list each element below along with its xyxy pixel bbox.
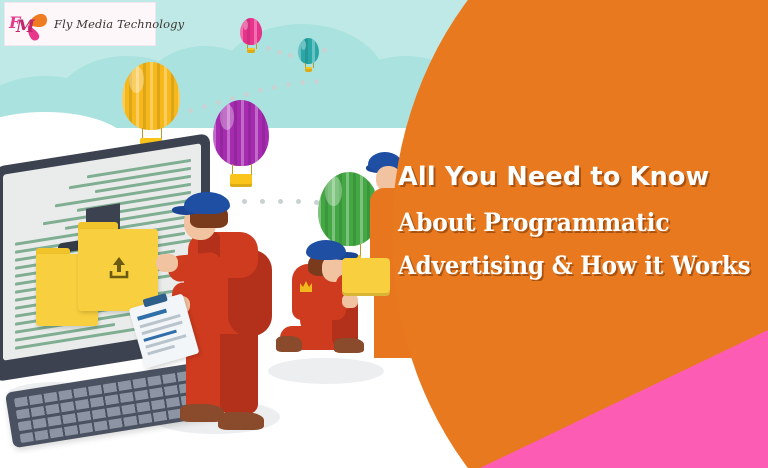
boot-icon (218, 412, 264, 430)
headline-line-2: About Programmatic (398, 208, 735, 238)
balloon-teal-small (298, 38, 319, 71)
balloon-purple (213, 100, 269, 186)
logo[interactable]: F M Fly Media Technology (4, 2, 156, 46)
svg-text:M: M (15, 17, 36, 37)
headline-line-3: Advertising & How it Works (398, 251, 735, 280)
butterfly-logo-icon: F M (8, 6, 52, 42)
upload-arrow-icon (106, 254, 132, 280)
blue-cap-icon (306, 240, 346, 260)
balloon-pink-small (240, 18, 262, 52)
blue-cap-icon (184, 192, 230, 214)
balloon-basket (342, 258, 390, 296)
headline-line-1: All You Need to Know (398, 162, 764, 192)
banner: All You Need to Know About Programmatic … (0, 0, 768, 468)
balloon-yellow (122, 62, 180, 150)
logo-wordmark: Fly Media Technology (54, 17, 184, 31)
worker-standing (162, 192, 286, 438)
headline-block: All You Need to Know About Programmatic … (398, 162, 764, 280)
uniform-badge-icon (298, 278, 316, 296)
worker-kneeling (278, 240, 390, 370)
